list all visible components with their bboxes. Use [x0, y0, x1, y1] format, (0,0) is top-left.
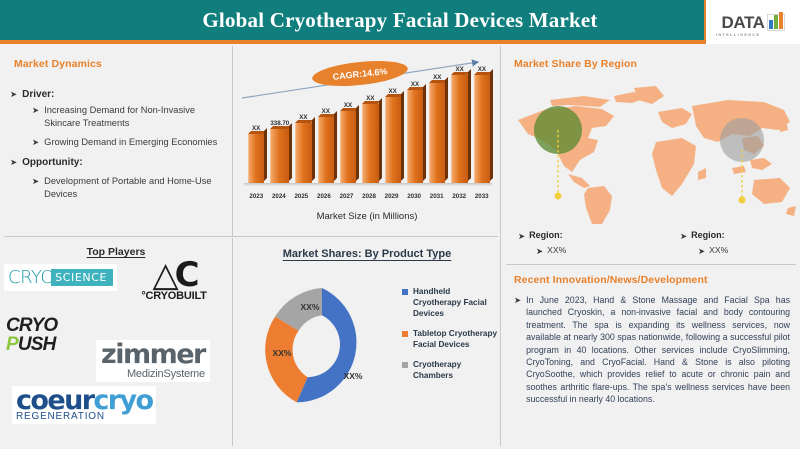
logo-bars-icon: [767, 14, 785, 31]
market-share-region-panel: Market Share By Region: [502, 44, 800, 264]
logo-coeurcryo: coeurcryo REGENERATION: [12, 386, 156, 424]
bar-chart-x-axis: 2023 2024 2025 2026 2027 2028 2029 2030 …: [248, 193, 490, 200]
cryobuilt-mark-icon: △C: [126, 260, 222, 290]
x-tick-2029: 2029: [383, 193, 400, 200]
cryopush-part2: USH: [18, 334, 56, 355]
donut-label-tabletop: XX%: [273, 348, 292, 358]
x-tick-2027: 2027: [338, 193, 355, 200]
market-share-region-title: Market Share By Region: [514, 58, 637, 70]
infographic-page: Global Cryotherapy Facial Devices Market…: [0, 0, 800, 449]
market-dynamics-panel: Market Dynamics ➤ Driver: ➤ Increasing D…: [0, 44, 232, 236]
page-header: Global Cryotherapy Facial Devices Market: [0, 0, 800, 40]
market-size-chart-panel: CAGR:14.6% XX 338.70 XX XX XX XX XX XX X…: [234, 44, 500, 236]
chevron-right-icon: ➤: [518, 230, 525, 243]
region-callout-2: ➤ Region: ➤ XX%: [680, 230, 728, 258]
driver-item-1-text: Increasing Demand for Non-Invasive Skinc…: [44, 104, 224, 129]
legend-item-handheld: Handheld Cryotherapy Facial Devices: [402, 286, 498, 319]
x-tick-2028: 2028: [361, 193, 378, 200]
opportunity-item-1-text: Development of Portable and Home-Use Dev…: [44, 175, 224, 200]
divider-vertical-1: [232, 46, 233, 236]
legend-swatch-blue: [402, 289, 408, 295]
x-tick-2033: 2033: [473, 193, 490, 200]
chevron-right-icon: ➤: [32, 175, 39, 200]
bar-chart-caption: Market Size (in Millions): [234, 211, 500, 222]
logo-tagline: INTELLIGENCE: [716, 33, 760, 37]
market-dynamics-list: ➤ Driver: ➤ Increasing Demand for Non-In…: [10, 88, 224, 207]
legend-item-chambers: Cryotherapy Chambers: [402, 359, 498, 381]
logo-wordmark: DATA: [721, 14, 764, 31]
recent-news-title: Recent Innovation/News/Development: [514, 274, 708, 286]
chevron-right-icon: ➤: [514, 294, 521, 406]
divider-vertical-3: [232, 238, 233, 446]
legend-swatch-gray: [402, 362, 408, 368]
brand-logo: DATA INTELLIGENCE: [704, 0, 800, 44]
divider-horizontal-1: [4, 236, 498, 237]
bar-chart: CAGR:14.6% XX 338.70 XX XX XX XX XX XX X…: [240, 54, 494, 206]
driver-label: Driver:: [22, 88, 54, 101]
top-players-panel: Top Players CRYO SCIENCE △C °CRYOBUILT C…: [0, 238, 232, 449]
legend-item-tabletop: Tabletop Cryotherapy Facial Devices: [402, 328, 498, 350]
chevron-right-icon: ➤: [32, 136, 39, 149]
region-callout-1: ➤ Region: ➤ XX%: [518, 230, 566, 258]
chevron-right-icon: ➤: [10, 156, 17, 169]
region-2-label: Region:: [691, 230, 725, 240]
x-tick-2031: 2031: [428, 193, 445, 200]
driver-item-2-text: Growing Demand in Emerging Economies: [44, 136, 217, 149]
donut-label-handheld: XX%: [344, 371, 363, 381]
x-tick-2026: 2026: [316, 193, 333, 200]
product-type-share-panel: Market Shares: By Product Type XX% XX% X…: [234, 238, 500, 449]
x-tick-2024: 2024: [271, 193, 288, 200]
x-tick-2030: 2030: [406, 193, 423, 200]
donut-slice-tabletop: [265, 317, 307, 403]
world-map: [506, 76, 798, 226]
donut-chart-title: Market Shares: By Product Type: [234, 248, 500, 260]
x-tick-2032: 2032: [451, 193, 468, 200]
divider-vertical-2: [500, 46, 501, 446]
divider-horizontal-2: [506, 264, 796, 265]
chevron-right-icon: ➤: [10, 88, 17, 101]
cagr-label: CAGR:14.6%: [332, 66, 388, 82]
donut-legend: Handheld Cryotherapy Facial Devices Tabl…: [402, 286, 498, 390]
logo-cryo-push: CRYO PUSH: [6, 316, 57, 354]
recent-news-text: In June 2023, Hand & Stone Massage and F…: [526, 294, 790, 406]
opportunity-label: Opportunity:: [22, 156, 83, 169]
top-players-title: Top Players: [0, 246, 232, 258]
region-2-value: XX%: [709, 245, 728, 255]
x-tick-2025: 2025: [293, 193, 310, 200]
map-pin-1-icon: [555, 193, 562, 200]
chevron-right-icon: ➤: [32, 104, 39, 129]
driver-item-2: ➤ Growing Demand in Emerging Economies: [32, 136, 224, 149]
opportunity-heading: ➤ Opportunity:: [10, 156, 224, 169]
logo-cryobuilt: △C °CRYOBUILT: [126, 260, 222, 302]
chart-baseline: [244, 183, 492, 186]
recent-news-body: ➤ In June 2023, Hand & Stone Massage and…: [514, 294, 790, 406]
donut-chart: XX% XX% XX%: [252, 278, 392, 418]
chevron-right-icon: ➤: [698, 245, 705, 258]
x-tick-2023: 2023: [248, 193, 265, 200]
map-pin-2-icon: [739, 197, 746, 204]
driver-item-1: ➤ Increasing Demand for Non-Invasive Ski…: [32, 104, 224, 129]
region-1-value: XX%: [547, 245, 566, 255]
opportunity-item-1: ➤ Development of Portable and Home-Use D…: [32, 175, 224, 200]
recent-news-panel: Recent Innovation/News/Development ➤ In …: [502, 266, 800, 449]
region-1-label: Region:: [529, 230, 563, 240]
legend-swatch-orange: [402, 331, 408, 337]
logo-cryo-science: CRYO SCIENCE: [4, 264, 117, 291]
logo-zimmer: zimmer MedizinSysteme: [96, 340, 210, 382]
driver-heading: ➤ Driver:: [10, 88, 224, 101]
page-title: Global Cryotherapy Facial Devices Market: [202, 8, 597, 33]
chevron-right-icon: ➤: [680, 230, 687, 243]
donut-label-chambers: XX%: [301, 302, 320, 312]
chevron-right-icon: ➤: [536, 245, 543, 258]
market-dynamics-title: Market Dynamics: [14, 58, 102, 70]
